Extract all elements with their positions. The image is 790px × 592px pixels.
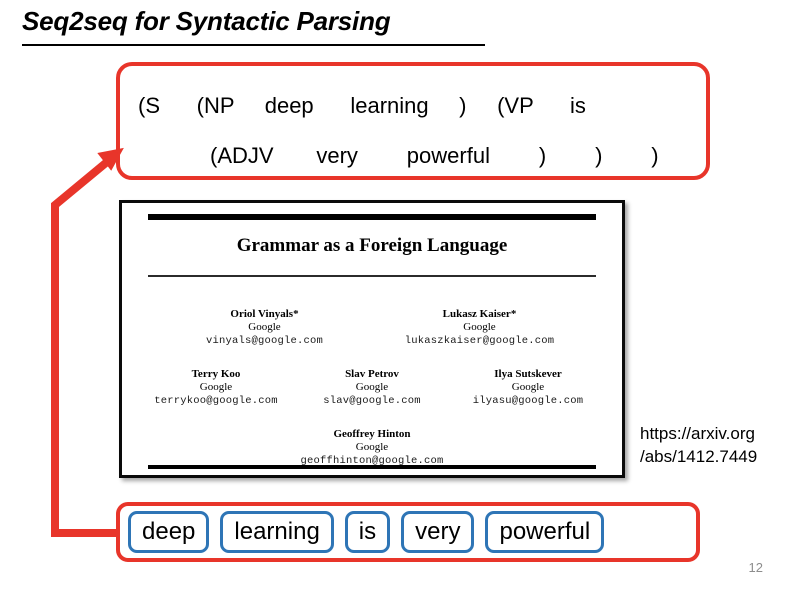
author-email: vinyals@google.com xyxy=(157,334,372,348)
paper-author: Slav Petrov Google slav@google.com xyxy=(294,367,450,408)
page-title: Seq2seq for Syntactic Parsing xyxy=(22,6,390,37)
author-name: Slav Petrov xyxy=(294,367,450,381)
word-token: is xyxy=(345,511,390,553)
paper-author: Terry Koo Google terrykoo@google.com xyxy=(138,367,294,408)
paper-rule-top xyxy=(148,214,596,220)
author-affiliation: Google xyxy=(450,381,606,394)
flow-arrow-shaft xyxy=(55,157,120,533)
paper-author: Ilya Sutskever Google ilyasu@google.com xyxy=(450,367,606,408)
paper-screenshot: Grammar as a Foreign Language Oriol Viny… xyxy=(119,200,625,478)
paper-author: Geoffrey Hinton Google geoffhinton@googl… xyxy=(265,427,480,468)
page-number: 12 xyxy=(749,560,763,575)
arxiv-url-line-2: /abs/1412.7449 xyxy=(640,445,790,468)
author-affiliation: Google xyxy=(294,381,450,394)
author-email: terrykoo@google.com xyxy=(138,394,294,408)
author-email: slav@google.com xyxy=(294,394,450,408)
author-affiliation: Google xyxy=(157,321,372,334)
author-email: ilyasu@google.com xyxy=(450,394,606,408)
paper-rule-middle xyxy=(148,275,596,277)
paper-author: Oriol Vinyals* Google vinyals@google.com xyxy=(157,307,372,348)
word-token: learning xyxy=(220,511,333,553)
paper-rule-bottom xyxy=(148,465,596,469)
paper-author: Lukasz Kaiser* Google lukaszkaiser@googl… xyxy=(372,307,587,348)
author-name: Terry Koo xyxy=(138,367,294,381)
author-affiliation: Google xyxy=(372,321,587,334)
paper-author-row: Geoffrey Hinton Google geoffhinton@googl… xyxy=(122,427,622,468)
author-name: Lukasz Kaiser* xyxy=(372,307,587,321)
parse-output-line-1: (S (NP deep learning ) (VP is xyxy=(138,95,586,117)
author-name: Geoffrey Hinton xyxy=(265,427,480,441)
arxiv-url-line-1: https://arxiv.org xyxy=(640,422,790,445)
arxiv-url: https://arxiv.org /abs/1412.7449 xyxy=(640,422,790,468)
title-underline xyxy=(22,44,485,46)
paper-title: Grammar as a Foreign Language xyxy=(122,235,622,257)
author-affiliation: Google xyxy=(138,381,294,394)
paper-author-row: Terry Koo Google terrykoo@google.com Sla… xyxy=(122,367,622,408)
word-token: deep xyxy=(128,511,209,553)
author-email: lukaszkaiser@google.com xyxy=(372,334,587,348)
author-name: Ilya Sutskever xyxy=(450,367,606,381)
paper-author-row: Oriol Vinyals* Google vinyals@google.com… xyxy=(122,307,622,348)
parse-output-line-2: (ADJV very powerful ) ) ) xyxy=(210,145,659,167)
author-affiliation: Google xyxy=(265,441,480,454)
word-token: powerful xyxy=(485,511,604,553)
word-token: very xyxy=(401,511,474,553)
input-sentence-box: deep learning is very powerful xyxy=(116,502,700,562)
author-name: Oriol Vinyals* xyxy=(157,307,372,321)
parse-output-box: (S (NP deep learning ) (VP is (ADJV very… xyxy=(116,62,710,180)
